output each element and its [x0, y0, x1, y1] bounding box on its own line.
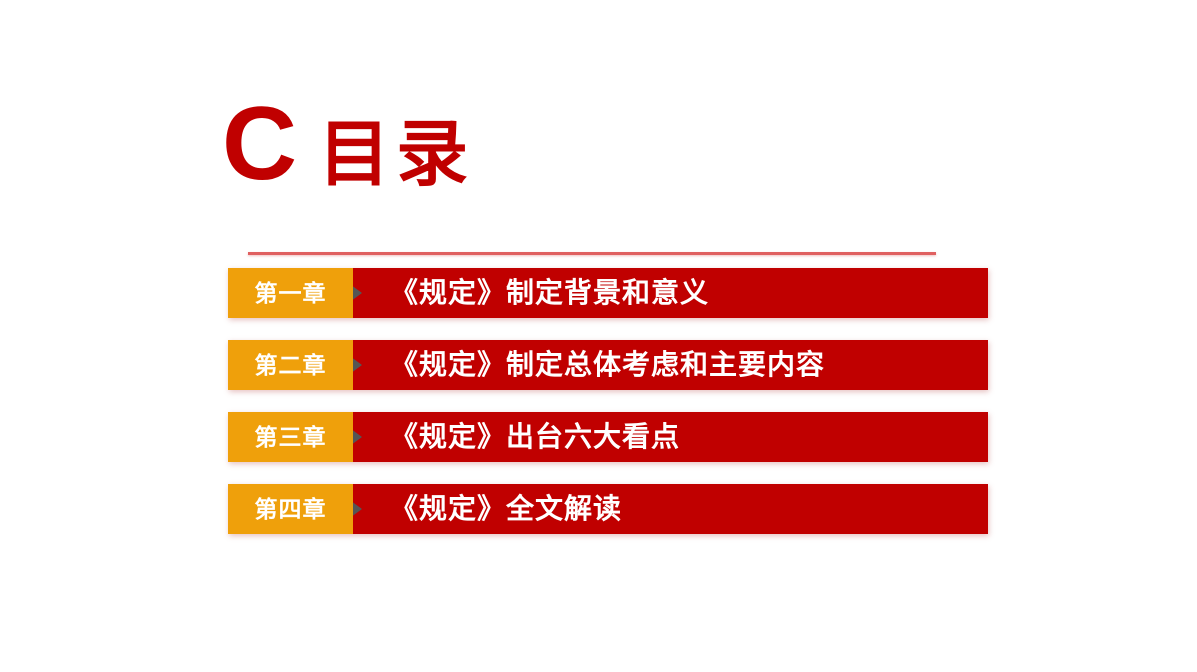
chapter-row[interactable]: 第四章 《规定》全文解读 — [228, 484, 988, 534]
chapter-title-label: 《规定》制定背景和意义 — [390, 279, 709, 307]
chapter-list: 第一章 《规定》制定背景和意义 第二章 《规定》制定总体考虑和主要内容 第三章 … — [228, 268, 988, 556]
chapter-title-label: 《规定》全文解读 — [390, 495, 622, 523]
page-title: C 目录 — [222, 92, 474, 196]
chapter-badge-label: 第一章 — [255, 282, 327, 305]
title-divider-line — [248, 252, 936, 255]
chapter-bar-1[interactable]: 《规定》制定背景和意义 — [353, 268, 988, 318]
chapter-badge-label: 第四章 — [255, 498, 327, 521]
chapter-row[interactable]: 第一章 《规定》制定背景和意义 — [228, 268, 988, 318]
chapter-badge-2[interactable]: 第二章 — [228, 340, 353, 390]
chapter-badge-label: 第二章 — [255, 354, 327, 377]
chapter-row[interactable]: 第三章 《规定》出台六大看点 — [228, 412, 988, 462]
chapter-bar-4[interactable]: 《规定》全文解读 — [353, 484, 988, 534]
chapter-badge-1[interactable]: 第一章 — [228, 268, 353, 318]
title-chinese-text: 目录 — [318, 119, 474, 191]
chapter-bar-3[interactable]: 《规定》出台六大看点 — [353, 412, 988, 462]
chapter-badge-3[interactable]: 第三章 — [228, 412, 353, 462]
title-initial-letter: C — [222, 92, 296, 196]
chapter-title-label: 《规定》制定总体考虑和主要内容 — [390, 351, 825, 379]
chapter-row[interactable]: 第二章 《规定》制定总体考虑和主要内容 — [228, 340, 988, 390]
chapter-title-label: 《规定》出台六大看点 — [390, 423, 680, 451]
slide-canvas: C 目录 第一章 《规定》制定背景和意义 第二章 《规定》制定总体考虑和主要内容 — [0, 0, 1197, 672]
chapter-badge-label: 第三章 — [255, 426, 327, 449]
chapter-badge-4[interactable]: 第四章 — [228, 484, 353, 534]
chapter-bar-2[interactable]: 《规定》制定总体考虑和主要内容 — [353, 340, 988, 390]
